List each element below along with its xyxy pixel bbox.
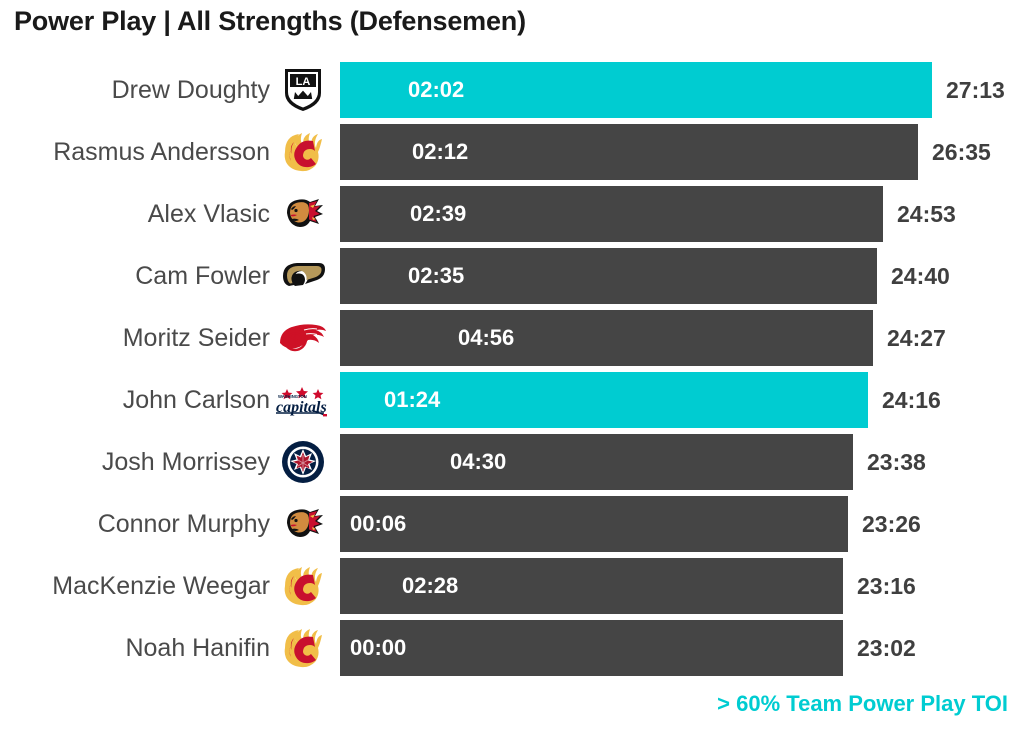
power-play-toi-label: 00:00 (350, 620, 406, 676)
power-play-toi-label: 02:12 (412, 124, 468, 180)
total-toi-label: 23:38 (867, 434, 926, 490)
bar-track: 02:1226:35 (340, 124, 1024, 180)
table-row: Connor Murphy00:0623:26 (0, 496, 1024, 552)
player-name: John Carlson (123, 372, 270, 428)
anaheim-ducks-logo-icon (272, 248, 334, 304)
bar-track: 02:2823:16 (340, 558, 1024, 614)
bar-track: 00:0623:26 (340, 496, 1024, 552)
table-row: Moritz Seider04:5624:27 (0, 310, 1024, 366)
chicago-blackhawks-logo-icon (272, 496, 334, 552)
total-toi-label: 26:35 (932, 124, 991, 180)
bar-rows: Drew DoughtyLA02:0227:13Rasmus Andersson… (0, 62, 1024, 682)
power-play-toi-label: 00:06 (350, 496, 406, 552)
table-row: Rasmus Andersson02:1226:35 (0, 124, 1024, 180)
table-row: MacKenzie Weegar02:2823:16 (0, 558, 1024, 614)
calgary-flames-logo-icon (272, 620, 334, 676)
total-toi-label: 23:26 (862, 496, 921, 552)
total-toi-label: 27:13 (946, 62, 1005, 118)
total-toi-label: 23:16 (857, 558, 916, 614)
svg-text:LA: LA (296, 76, 311, 88)
calgary-flames-logo-icon (272, 124, 334, 180)
player-name: Alex Vlasic (148, 186, 270, 242)
power-play-toi-label: 02:39 (410, 186, 466, 242)
bar-track: 02:3524:40 (340, 248, 1024, 304)
bar-track: 00:0023:02 (340, 620, 1024, 676)
player-name: Drew Doughty (112, 62, 270, 118)
bar-track: 02:3924:53 (340, 186, 1024, 242)
power-play-toi-label: 02:35 (408, 248, 464, 304)
washington-capitals-logo-icon: WASHINGTONcapitals (272, 372, 334, 428)
toi-bar (340, 310, 873, 366)
table-row: Cam Fowler02:3524:40 (0, 248, 1024, 304)
table-row: Drew DoughtyLA02:0227:13 (0, 62, 1024, 118)
calgary-flames-logo-icon (272, 558, 334, 614)
player-name: MacKenzie Weegar (52, 558, 270, 614)
player-name: Connor Murphy (98, 496, 270, 552)
total-toi-label: 24:16 (882, 372, 941, 428)
total-toi-label: 24:53 (897, 186, 956, 242)
detroit-red-wings-logo-icon (272, 310, 334, 366)
toi-bar (340, 496, 848, 552)
player-name: Cam Fowler (135, 248, 270, 304)
toi-bar (340, 434, 853, 490)
player-name: Rasmus Andersson (53, 124, 270, 180)
total-toi-label: 24:40 (891, 248, 950, 304)
total-toi-label: 23:02 (857, 620, 916, 676)
bar-track: 02:0227:13 (340, 62, 1024, 118)
bar-track: 04:5624:27 (340, 310, 1024, 366)
toi-bar (340, 620, 843, 676)
power-play-toi-label: 02:02 (408, 62, 464, 118)
player-name: Noah Hanifin (125, 620, 270, 676)
page-title: Power Play | All Strengths (Defensemen) (14, 6, 526, 37)
los-angeles-kings-logo-icon: LA (272, 62, 334, 118)
player-name: Josh Morrissey (102, 434, 270, 490)
total-toi-label: 24:27 (887, 310, 946, 366)
table-row: Noah Hanifin00:0023:02 (0, 620, 1024, 676)
winnipeg-jets-logo-icon (272, 434, 334, 490)
player-name: Moritz Seider (123, 310, 270, 366)
power-play-toi-label: 02:28 (402, 558, 458, 614)
power-play-toi-label: 04:56 (458, 310, 514, 366)
legend-note: > 60% Team Power Play TOI (717, 691, 1008, 717)
table-row: John CarlsonWASHINGTONcapitals01:2424:16 (0, 372, 1024, 428)
chart-container: Power Play | All Strengths (Defensemen) … (0, 0, 1024, 731)
bar-track: 01:2424:16 (340, 372, 1024, 428)
power-play-toi-label: 01:24 (384, 372, 440, 428)
chicago-blackhawks-logo-icon (272, 186, 334, 242)
table-row: Alex Vlasic02:3924:53 (0, 186, 1024, 242)
power-play-toi-label: 04:30 (450, 434, 506, 490)
table-row: Josh Morrissey04:3023:38 (0, 434, 1024, 490)
bar-track: 04:3023:38 (340, 434, 1024, 490)
